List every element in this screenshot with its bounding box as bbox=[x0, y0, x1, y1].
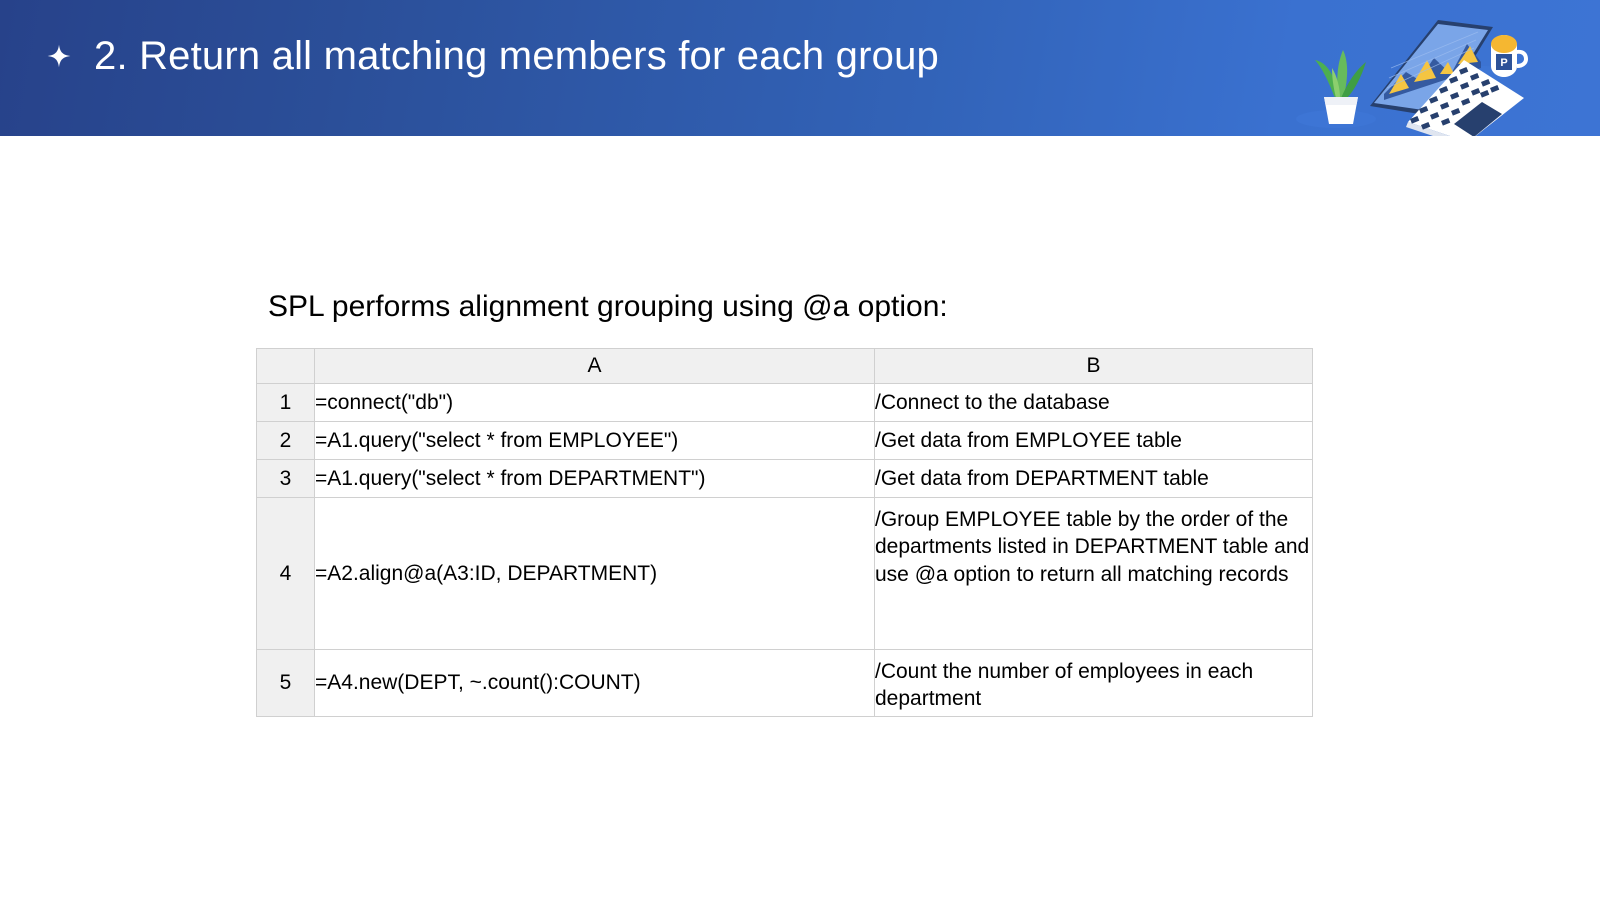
cell-a3[interactable]: =A1.query("select * from DEPARTMENT") bbox=[315, 460, 875, 498]
table-row: 2 =A1.query("select * from EMPLOYEE") /G… bbox=[257, 422, 1313, 460]
cell-a1[interactable]: =connect("db") bbox=[315, 384, 875, 422]
cell-a4[interactable]: =A2.align@a(A3:ID, DEPARTMENT) bbox=[315, 498, 875, 650]
cell-a2[interactable]: =A1.query("select * from EMPLOYEE") bbox=[315, 422, 875, 460]
row-index-1: 1 bbox=[257, 384, 315, 422]
column-header-a: A bbox=[315, 349, 875, 384]
table-header-row: A B bbox=[257, 349, 1313, 384]
column-header-b: B bbox=[875, 349, 1313, 384]
section-caption: SPL performs alignment grouping using @a… bbox=[268, 290, 948, 323]
slide-body: SPL performs alignment grouping using @a… bbox=[0, 136, 1600, 900]
row-index-5: 5 bbox=[257, 650, 315, 717]
coffee-mug-icon: P bbox=[1491, 35, 1528, 77]
table-row: 5 =A4.new(DEPT, ~.count():COUNT) /Count … bbox=[257, 650, 1313, 717]
table-corner-cell bbox=[257, 349, 315, 384]
cell-b3[interactable]: /Get data from DEPARTMENT table bbox=[875, 460, 1313, 498]
cell-b4[interactable]: /Group EMPLOYEE table by the order of th… bbox=[875, 498, 1313, 650]
slide-header-band: 2. Return all matching members for each … bbox=[0, 0, 1600, 136]
row-index-2: 2 bbox=[257, 422, 315, 460]
table-row: 1 =connect("db") /Connect to the databas… bbox=[257, 384, 1313, 422]
row-index-4: 4 bbox=[257, 498, 315, 650]
cell-a5[interactable]: =A4.new(DEPT, ~.count():COUNT) bbox=[315, 650, 875, 717]
spl-grid-table: A B 1 =connect("db") /Connect to the dat… bbox=[256, 348, 1313, 717]
laptop-chart-illustration: P bbox=[1288, 2, 1538, 136]
cell-b2[interactable]: /Get data from EMPLOYEE table bbox=[875, 422, 1313, 460]
table-row: 3 =A1.query("select * from DEPARTMENT") … bbox=[257, 460, 1313, 498]
spl-grid-table-wrap: A B 1 =connect("db") /Connect to the dat… bbox=[256, 348, 1312, 717]
header-title-row: 2. Return all matching members for each … bbox=[46, 36, 939, 76]
cell-b1[interactable]: /Connect to the database bbox=[875, 384, 1313, 422]
table-row: 4 =A2.align@a(A3:ID, DEPARTMENT) /Group … bbox=[257, 498, 1313, 650]
row-index-3: 3 bbox=[257, 460, 315, 498]
page-title: 2. Return all matching members for each … bbox=[94, 36, 939, 76]
sparkle-star-icon bbox=[46, 43, 72, 69]
svg-text:P: P bbox=[1500, 57, 1507, 69]
cell-b5[interactable]: /Count the number of employees in each d… bbox=[875, 650, 1313, 717]
